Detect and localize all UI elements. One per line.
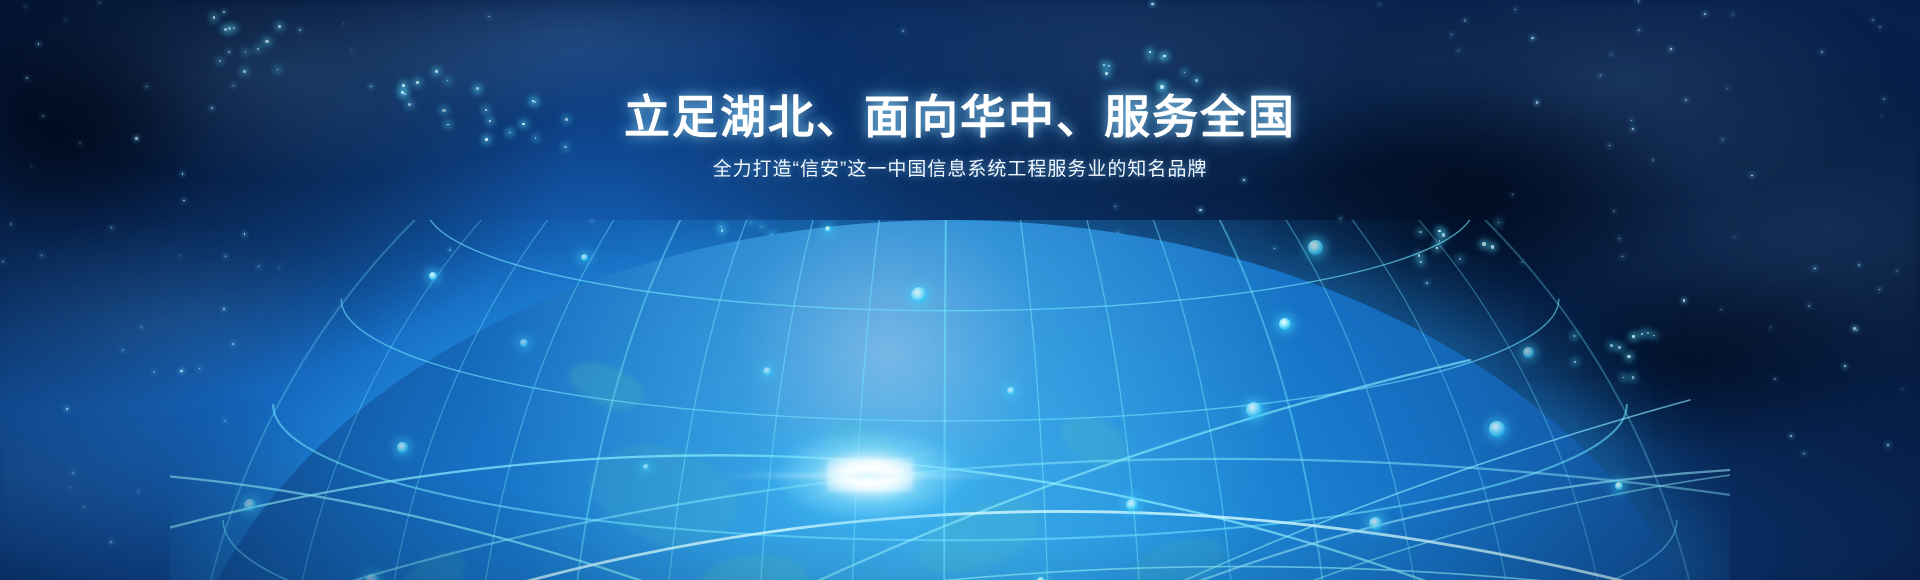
star-dot <box>1727 88 1728 89</box>
network-node <box>397 442 408 453</box>
network-arc <box>950 220 1334 580</box>
star-dot <box>370 86 372 88</box>
star-dot <box>1887 444 1889 446</box>
star-sparkle <box>416 81 419 84</box>
star-dot <box>1872 19 1874 21</box>
star-dot <box>1844 365 1846 367</box>
star-dot <box>1611 54 1612 55</box>
star-dot <box>299 29 301 31</box>
network-node <box>1523 347 1534 358</box>
star-sparkle <box>265 40 269 44</box>
star-sparkle <box>1108 65 1110 67</box>
star-dot <box>1638 29 1640 31</box>
star-dot <box>66 408 68 410</box>
network-arc <box>950 220 1240 580</box>
star-sparkle <box>1195 79 1198 82</box>
star-dot <box>26 77 28 79</box>
star-dot <box>72 472 74 474</box>
network-arc <box>377 220 950 580</box>
star-dot <box>41 255 42 256</box>
star-dot <box>1879 26 1881 28</box>
star-dot <box>1732 14 1733 15</box>
network-arc <box>950 220 1429 580</box>
network-arc <box>290 470 1730 580</box>
star-sparkle <box>1162 57 1163 58</box>
star-dot <box>1879 289 1880 290</box>
network-arc <box>310 470 1730 580</box>
star-dot <box>1531 37 1534 40</box>
star-sparkle <box>1149 58 1151 60</box>
star-sparkle <box>1161 85 1163 87</box>
network-node <box>429 272 437 280</box>
star-dot <box>1464 19 1466 21</box>
star-dot <box>183 200 185 202</box>
network-node <box>1308 240 1323 255</box>
star-dot <box>1821 51 1823 53</box>
star-dot <box>1858 264 1860 266</box>
network-node <box>1126 499 1138 511</box>
star-dot <box>146 86 147 87</box>
star-sparkle <box>213 16 216 19</box>
network-node <box>825 226 831 232</box>
star-dot <box>99 2 100 3</box>
network-arc <box>849 220 950 580</box>
star-sparkle <box>224 28 227 31</box>
network-node <box>763 367 772 376</box>
star-dot <box>138 491 139 492</box>
star-dot <box>70 487 71 488</box>
star-dot <box>83 506 85 508</box>
star-dot <box>1199 209 1201 211</box>
star-sparkle <box>277 69 278 70</box>
star-sparkle <box>402 84 405 87</box>
star-dot <box>233 85 234 86</box>
star-sparkle <box>1149 51 1151 53</box>
star-sparkle <box>1163 55 1165 57</box>
star-sparkle <box>1105 72 1108 75</box>
network-node <box>1279 318 1291 330</box>
star-dot <box>343 23 344 24</box>
star-dot <box>1115 206 1116 207</box>
star-sparkle <box>1103 64 1105 66</box>
star-dot <box>1803 453 1805 455</box>
star-dot <box>902 30 904 32</box>
star-dot <box>10 223 12 225</box>
star-dot <box>351 50 352 51</box>
star-dot <box>1814 268 1815 269</box>
network-arc <box>170 567 1730 580</box>
star-dot <box>1734 237 1736 239</box>
network-node <box>244 499 256 511</box>
star-sparkle <box>228 27 231 30</box>
network-node <box>581 254 588 261</box>
star-dot <box>1613 210 1615 212</box>
page-subtitle: 全力打造“信安”这一中国信息系统工程服务业的知名品牌 <box>0 158 1920 182</box>
network-arc <box>170 470 1670 580</box>
star-dot <box>111 227 112 228</box>
network-node <box>1007 387 1015 395</box>
page-title: 立足湖北、面向华中、服务全国 <box>0 92 1920 142</box>
star-sparkle <box>219 60 222 63</box>
star-dot <box>110 541 112 543</box>
star-dot <box>1512 194 1513 195</box>
star-dot <box>223 11 225 13</box>
star-dot <box>25 6 26 7</box>
star-dot <box>228 51 230 53</box>
network-node <box>1369 517 1382 530</box>
star-dot <box>1458 50 1459 51</box>
star-dot <box>38 43 40 45</box>
star-dot <box>65 19 66 20</box>
network-arcs <box>170 220 1730 580</box>
star-sparkle <box>1184 72 1185 73</box>
star-dot <box>1379 4 1380 5</box>
star-sparkle <box>257 48 259 50</box>
star-dot <box>153 371 155 373</box>
star-dot <box>1896 270 1898 272</box>
star-sparkle <box>245 51 247 53</box>
network-arc <box>950 220 1145 580</box>
network-arc <box>950 220 1618 580</box>
network-node <box>911 287 927 303</box>
star-dot <box>1600 75 1601 76</box>
star-dot <box>1774 378 1776 380</box>
network-arc <box>341 299 1558 421</box>
network-node <box>1246 402 1262 418</box>
network-arc <box>426 220 1475 311</box>
star-dot <box>1902 389 1904 391</box>
network-node <box>643 464 649 470</box>
network-arc <box>282 220 950 580</box>
star-sparkle <box>278 25 281 28</box>
star-dot <box>141 327 143 329</box>
star-dot <box>1808 305 1810 307</box>
star-dot <box>1451 34 1452 35</box>
hero-banner: 立足湖北、面向华中、服务全国 全力打造“信安”这一中国信息系统工程服务业的知名品… <box>0 0 1920 580</box>
star-sparkle <box>447 80 448 81</box>
network-arc <box>566 220 950 580</box>
network-arc <box>755 220 950 580</box>
network-arc <box>223 520 1677 580</box>
star-dot <box>1704 13 1707 16</box>
star-dot <box>1340 218 1341 219</box>
network-arc <box>471 220 950 580</box>
network-node <box>520 339 528 347</box>
star-dot <box>488 16 489 17</box>
network-arc <box>170 360 1470 580</box>
network-node <box>1489 421 1505 437</box>
network-arc <box>950 220 1051 580</box>
globe-container <box>170 220 1730 580</box>
star-dot <box>1856 329 1858 331</box>
star-dot <box>122 349 124 351</box>
network-arc <box>950 220 1713 580</box>
star-sparkle <box>243 70 246 73</box>
star-dot <box>2 261 4 263</box>
star-sparkle <box>233 27 235 29</box>
star-sparkle <box>476 87 479 90</box>
star-dot <box>1638 0 1639 1</box>
star-sparkle <box>435 70 438 73</box>
headline-block: 立足湖北、面向华中、服务全国 全力打造“信安”这一中国信息系统工程服务业的知名品… <box>0 92 1920 182</box>
star-dot <box>1790 435 1792 437</box>
star-dot <box>1670 48 1672 50</box>
network-arc <box>950 220 1523 580</box>
star-dot <box>1151 3 1154 6</box>
star-dot <box>1770 327 1771 328</box>
network-node <box>1615 482 1623 490</box>
star-dot <box>1515 9 1516 10</box>
